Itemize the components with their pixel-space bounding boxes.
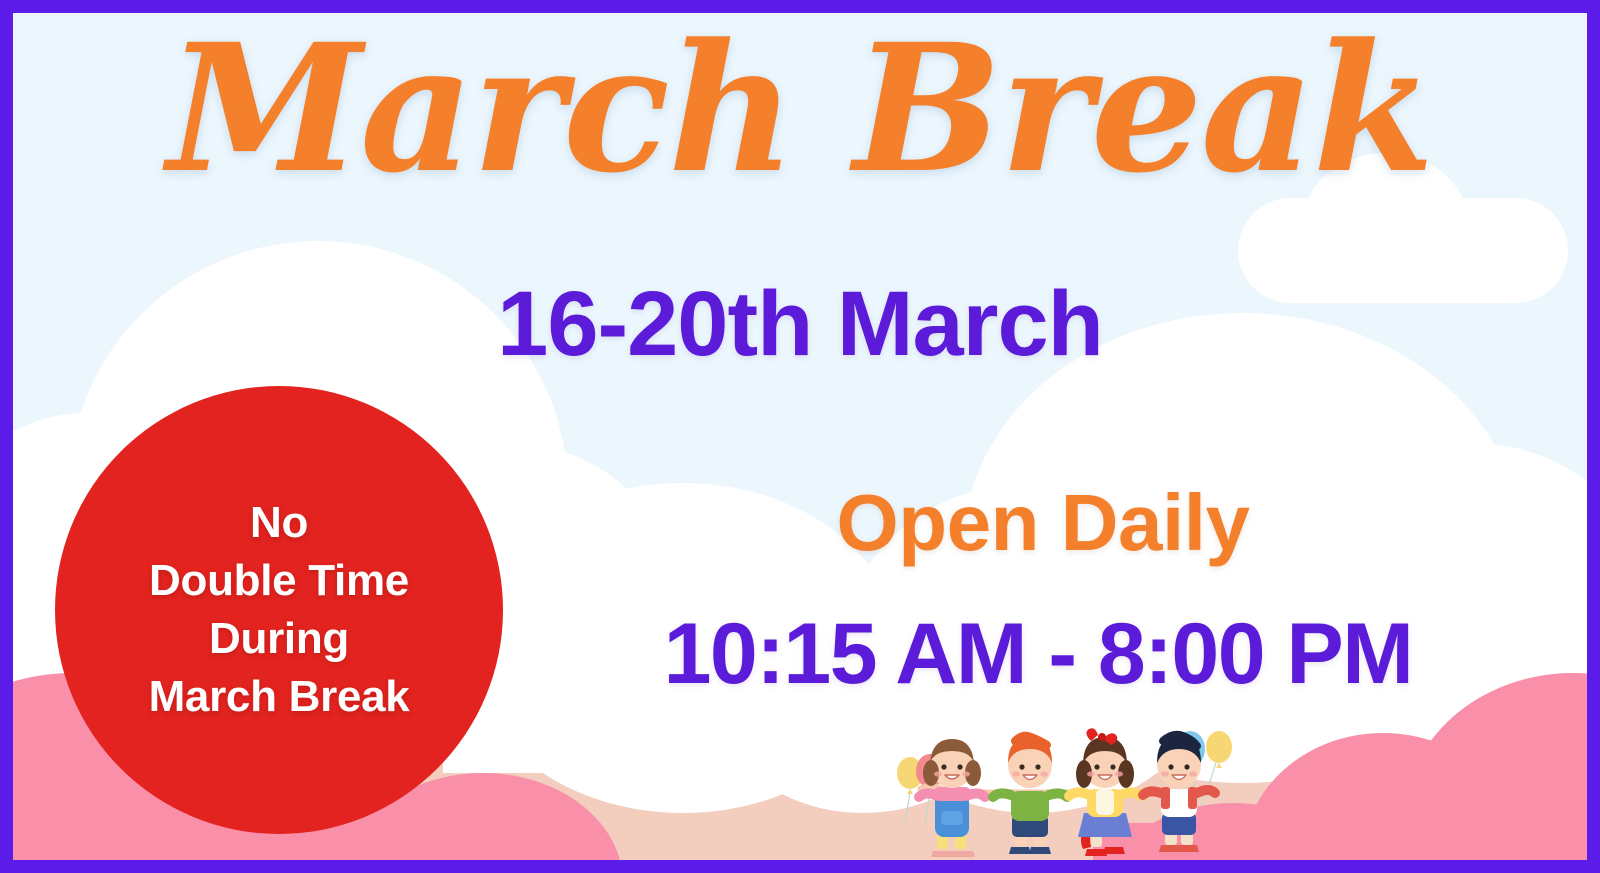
child-boy-red-hair	[993, 736, 1067, 854]
date-range: 16-20th March	[13, 276, 1587, 373]
open-daily-label: Open Daily	[513, 481, 1573, 565]
poster-canvas: March Break 16-20th March Open Daily 10:…	[13, 13, 1587, 860]
badge-text: No Double Time During March Break	[131, 494, 428, 726]
page-title: March Break	[13, 21, 1587, 197]
child-girl-red-bow	[1069, 728, 1141, 856]
opening-hours: 10:15 AM - 8:00 PM	[483, 609, 1587, 699]
no-double-time-badge: No Double Time During March Break	[55, 386, 503, 834]
children-illustration	[875, 681, 1245, 860]
march-break-poster: March Break 16-20th March Open Daily 10:…	[0, 0, 1600, 873]
